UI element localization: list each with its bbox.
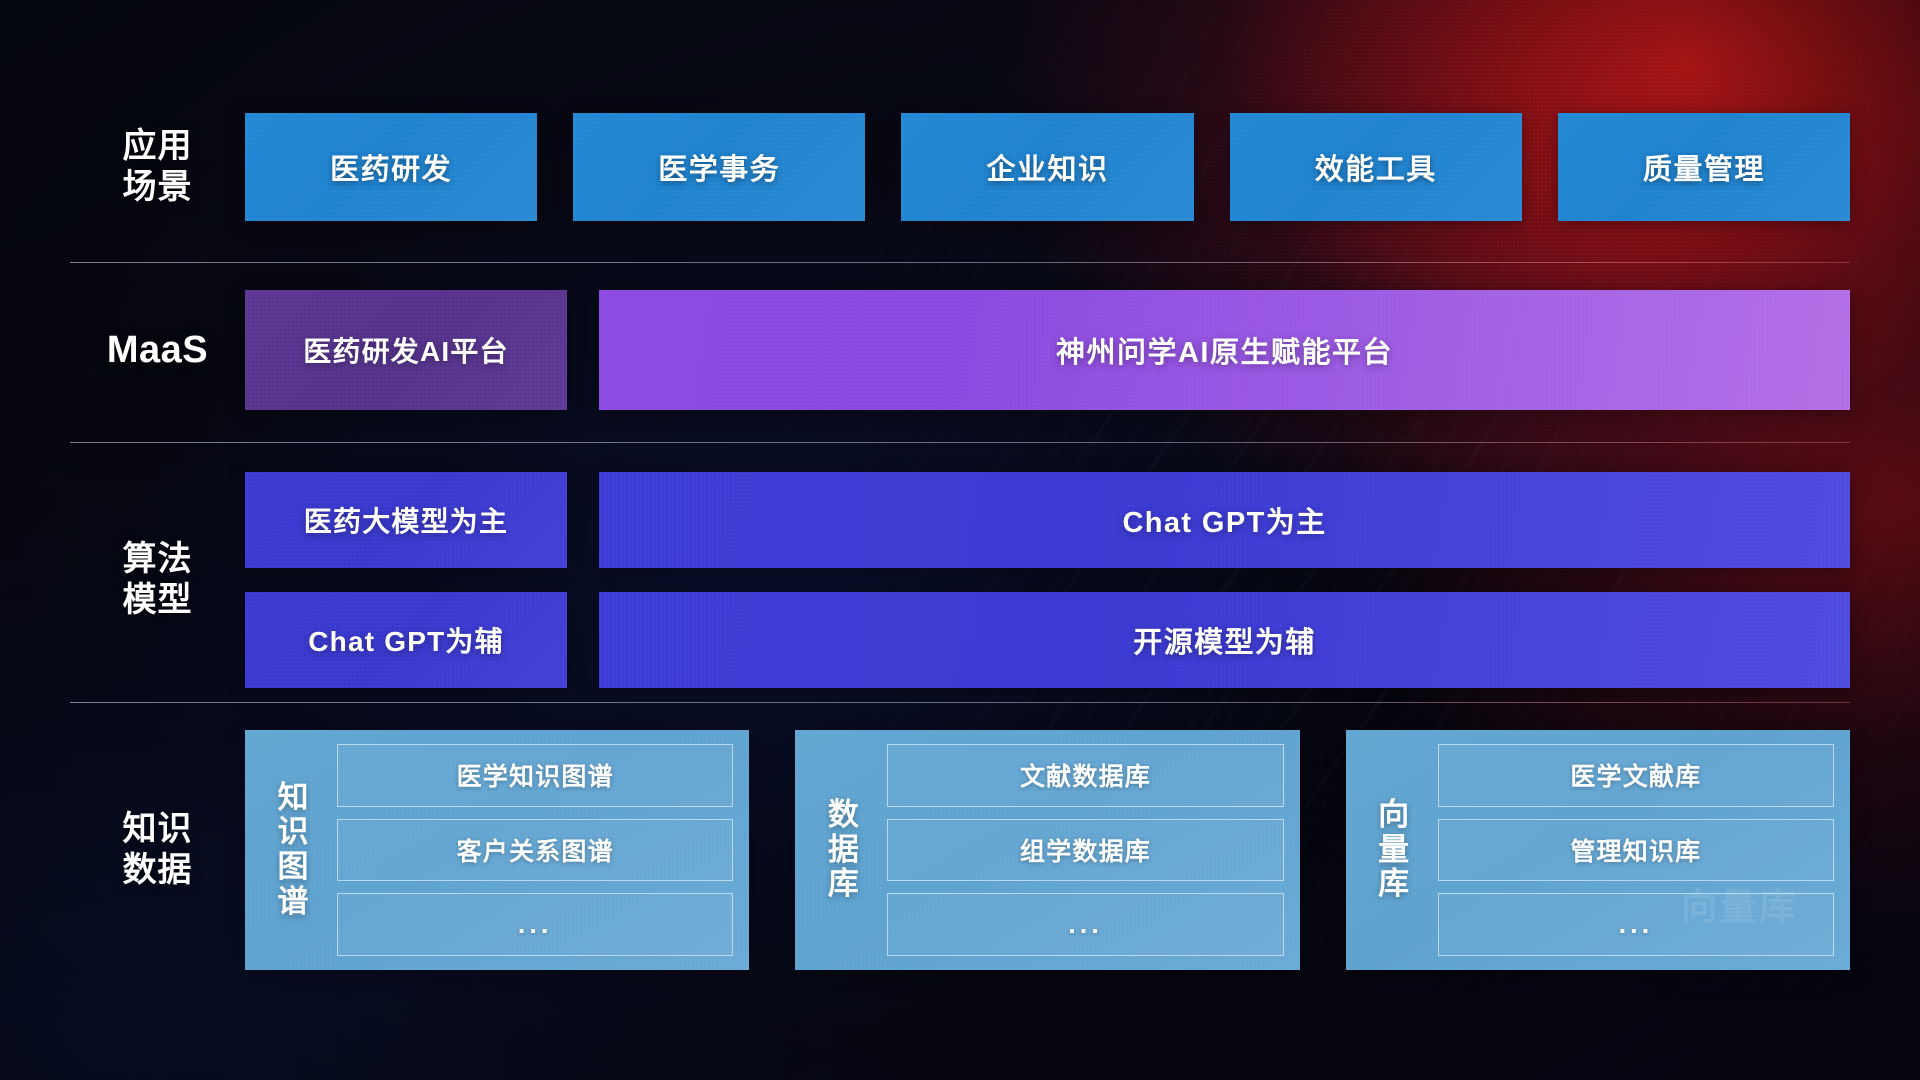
row-label-line-1: 知识 — [70, 809, 245, 850]
knowledge-group-title: 数据库 — [807, 744, 879, 956]
algorithm-cards-container: 医药大模型为主 Chat GPT为主 Chat GPT为辅 开源模型为辅 — [245, 472, 1850, 688]
knowledge-group-database[interactable]: 数据库 文献数据库 组学数据库 ... — [795, 730, 1299, 970]
row-maas: MaaS 医药研发AI平台 神州问学AI原生赋能平台 — [70, 290, 1850, 410]
algo-card-chatgpt-secondary[interactable]: Chat GPT为辅 — [245, 592, 567, 688]
maas-cards-container: 医药研发AI平台 神州问学AI原生赋能平台 — [245, 290, 1850, 410]
diagram-canvas: 应用 场景 医药研发 医学事务 企业知识 效能工具 — [0, 0, 1920, 1080]
app-card-quality-management[interactable]: 质量管理 — [1558, 113, 1850, 221]
app-card-label: 医学事务 — [658, 146, 780, 188]
knowledge-item-medical-knowledge-graph[interactable]: 医学知识图谱 — [337, 744, 733, 807]
knowledge-cards-container: 知识图谱 医学知识图谱 客户关系图谱 ... 数据库 文献数据库 组学数据库 .… — [245, 730, 1850, 970]
algo-card-label: 医药大模型为主 — [304, 500, 508, 540]
knowledge-item-more[interactable]: ... — [887, 893, 1283, 956]
knowledge-item-management-knowledge-store[interactable]: 管理知识库 — [1438, 819, 1834, 882]
row-algorithm-models: 算法 模型 医药大模型为主 Chat GPT为主 Chat — [70, 460, 1850, 700]
knowledge-group-items: 文献数据库 组学数据库 ... — [879, 744, 1283, 956]
app-card-medical-affairs[interactable]: 医学事务 — [573, 113, 865, 221]
knowledge-group-items: 医学知识图谱 客户关系图谱 ... — [329, 744, 733, 956]
knowledge-item-omics-database[interactable]: 组学数据库 — [887, 819, 1283, 882]
knowledge-group-items: 医学文献库 管理知识库 ... — [1430, 744, 1834, 956]
row-label-line-2: 场景 — [70, 167, 245, 208]
knowledge-item-literature-database[interactable]: 文献数据库 — [887, 744, 1283, 807]
divider-algorithm-knowledge — [70, 702, 1850, 703]
knowledge-item-more[interactable]: ... — [1438, 893, 1834, 956]
maas-card-drug-rd-ai-platform[interactable]: 医药研发AI平台 — [245, 290, 567, 410]
maas-card-label: 医药研发AI平台 — [303, 330, 509, 370]
algo-card-chatgpt-primary[interactable]: Chat GPT为主 — [599, 472, 1850, 568]
algorithm-line-primary: 医药大模型为主 Chat GPT为主 — [245, 472, 1850, 568]
row-application-scenarios: 应用 场景 医药研发 医学事务 企业知识 效能工具 — [70, 113, 1850, 221]
app-card-drug-rd[interactable]: 医药研发 — [245, 113, 537, 221]
maas-cards: 医药研发AI平台 神州问学AI原生赋能平台 — [245, 290, 1850, 410]
algo-card-label: Chat GPT为主 — [1122, 499, 1326, 541]
algo-card-label: 开源模型为辅 — [1133, 619, 1315, 661]
algo-card-label: Chat GPT为辅 — [308, 620, 504, 660]
maas-card-label: 神州问学AI原生赋能平台 — [1056, 329, 1393, 371]
algo-card-pharma-llm-primary[interactable]: 医药大模型为主 — [245, 472, 567, 568]
diagram-content: 应用 场景 医药研发 医学事务 企业知识 效能工具 — [0, 0, 1920, 1080]
row-label-application-scenarios: 应用 场景 — [70, 126, 245, 209]
row-label-algorithm-models: 算法 模型 — [70, 539, 245, 622]
app-card-efficiency-tools[interactable]: 效能工具 — [1230, 113, 1522, 221]
knowledge-item-customer-relation-graph[interactable]: 客户关系图谱 — [337, 819, 733, 882]
maas-card-shenzhou-wenxue-platform[interactable]: 神州问学AI原生赋能平台 — [599, 290, 1850, 410]
algorithm-line-secondary: Chat GPT为辅 开源模型为辅 — [245, 592, 1850, 688]
divider-applications-maas — [70, 262, 1850, 263]
knowledge-item-medical-literature-store[interactable]: 医学文献库 — [1438, 744, 1834, 807]
app-card-label: 医药研发 — [330, 146, 452, 188]
knowledge-group-vector-store[interactable]: 向量库 医学文献库 管理知识库 ... 向量库 — [1346, 730, 1850, 970]
algo-card-opensource-secondary[interactable]: 开源模型为辅 — [599, 592, 1850, 688]
row-label-line-2: 数据 — [70, 850, 245, 891]
row-label-line-2: 模型 — [70, 580, 245, 621]
row-label-knowledge-data: 知识 数据 — [70, 809, 245, 892]
divider-maas-algorithm — [70, 442, 1850, 443]
application-cards-container: 医药研发 医学事务 企业知识 效能工具 质量管理 — [245, 113, 1850, 221]
row-label-maas: MaaS — [70, 327, 245, 373]
app-card-label: 质量管理 — [1643, 146, 1765, 188]
knowledge-item-more[interactable]: ... — [337, 893, 733, 956]
row-knowledge-data: 知识 数据 知识图谱 医学知识图谱 客户关系图谱 ... 数据库 — [70, 730, 1850, 970]
app-card-enterprise-knowledge[interactable]: 企业知识 — [901, 113, 1193, 221]
knowledge-group-knowledge-graph[interactable]: 知识图谱 医学知识图谱 客户关系图谱 ... — [245, 730, 749, 970]
row-label-line-1: 应用 — [70, 126, 245, 167]
knowledge-groups: 知识图谱 医学知识图谱 客户关系图谱 ... 数据库 文献数据库 组学数据库 .… — [245, 730, 1850, 970]
row-label-line-1: 算法 — [70, 539, 245, 580]
knowledge-group-title: 向量库 — [1358, 744, 1430, 956]
app-card-label: 效能工具 — [1315, 146, 1437, 188]
algorithm-card-stack: 医药大模型为主 Chat GPT为主 Chat GPT为辅 开源模型为辅 — [245, 472, 1850, 688]
knowledge-group-title: 知识图谱 — [257, 744, 329, 956]
application-cards: 医药研发 医学事务 企业知识 效能工具 质量管理 — [245, 113, 1850, 221]
app-card-label: 企业知识 — [987, 146, 1109, 188]
